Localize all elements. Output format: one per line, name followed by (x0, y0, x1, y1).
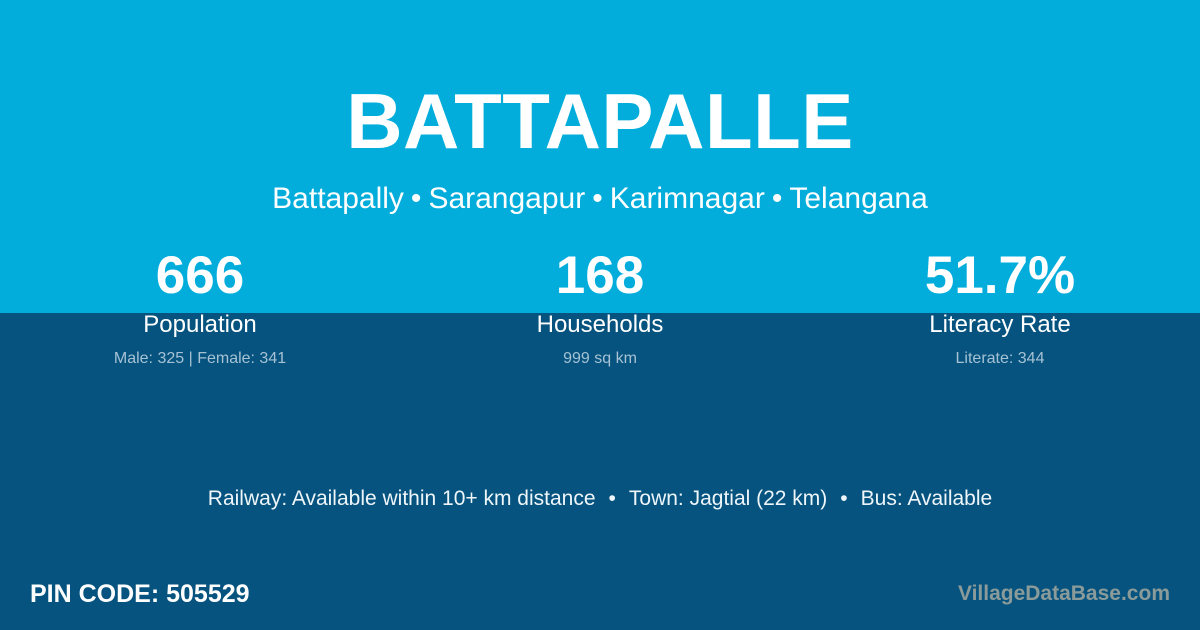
amenity-town: Town: Jagtial (22 km) (629, 487, 827, 510)
stats-row: 666 Population Male: 325 | Female: 341 1… (0, 246, 1200, 368)
card-header: BATTAPALLE Battapally•Sarangapur•Karimna… (0, 0, 1200, 215)
pin-code: PIN CODE: 505529 (30, 579, 250, 609)
amenity-separator: • (827, 487, 860, 510)
card-footer: PIN CODE: 505529 VillageDataBase.com (0, 574, 1200, 614)
stat-sub: 999 sq km (400, 350, 800, 368)
stat-sub: Literate: 344 (800, 350, 1200, 368)
stat-value: 168 (400, 246, 800, 305)
stat-sub: Male: 325 | Female: 341 (0, 350, 400, 368)
amenity-separator: • (596, 487, 629, 510)
stat-households: 168 Households 999 sq km (400, 246, 800, 368)
breadcrumb-separator: • (585, 182, 610, 215)
stat-population: 666 Population Male: 325 | Female: 341 (0, 246, 400, 368)
village-info-card: BATTAPALLE Battapally•Sarangapur•Karimna… (0, 0, 1200, 630)
breadcrumb-item-3: Telangana (789, 182, 927, 215)
stat-label: Households (400, 311, 800, 339)
breadcrumb-item-1: Sarangapur (428, 182, 585, 215)
breadcrumb-item-0: Battapally (272, 182, 404, 215)
breadcrumb-separator: • (404, 182, 429, 215)
stat-literacy-rate: 51.7% Literacy Rate Literate: 344 (800, 246, 1200, 368)
site-watermark: VillageDataBase.com (958, 581, 1170, 606)
stat-value: 51.7% (800, 246, 1200, 305)
amenity-railway: Railway: Available within 10+ km distanc… (208, 487, 596, 510)
amenities-line: Railway: Available within 10+ km distanc… (0, 486, 1200, 511)
stat-value: 666 (0, 246, 400, 305)
breadcrumb-item-2: Karimnagar (610, 182, 765, 215)
breadcrumb-separator: • (765, 182, 790, 215)
stat-label: Population (0, 311, 400, 339)
stat-label: Literacy Rate (800, 311, 1200, 339)
breadcrumb: Battapally•Sarangapur•Karimnagar•Telanga… (0, 182, 1200, 215)
amenity-bus: Bus: Available (861, 487, 993, 510)
page-title: BATTAPALLE (0, 82, 1200, 160)
